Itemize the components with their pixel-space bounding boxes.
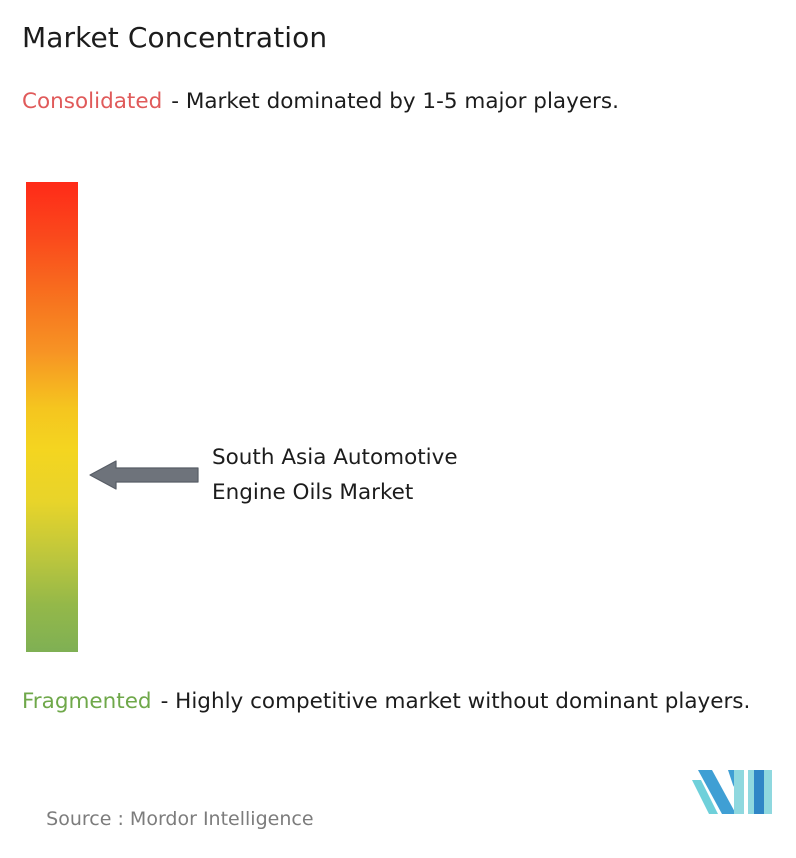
concentration-gradient-bar (26, 182, 78, 652)
market-label: South Asia Automotive Engine Oils Market (212, 440, 458, 510)
left-arrow-icon (88, 453, 200, 497)
legend-fragmented: Fragmented- Highly competitive market wi… (22, 686, 792, 718)
market-marker: South Asia Automotive Engine Oils Market (88, 440, 458, 510)
page-title: Market Concentration (22, 20, 327, 56)
legend-consolidated-description: - Market dominated by 1-5 major players. (171, 89, 619, 114)
source-line: Source : Mordor Intelligence (22, 780, 314, 858)
market-concentration-chart: Market Concentration Consolidated- Marke… (0, 0, 796, 834)
source-name: Mordor Intelligence (130, 808, 314, 830)
mordor-intelligence-logo (692, 768, 774, 816)
legend-fragmented-key: Fragmented (22, 689, 152, 714)
legend-fragmented-description: - Highly competitive market without domi… (161, 689, 751, 714)
legend-consolidated: Consolidated- Market dominated by 1-5 ma… (22, 86, 792, 118)
legend-consolidated-key: Consolidated (22, 89, 162, 114)
source-label: Source : (46, 808, 130, 830)
